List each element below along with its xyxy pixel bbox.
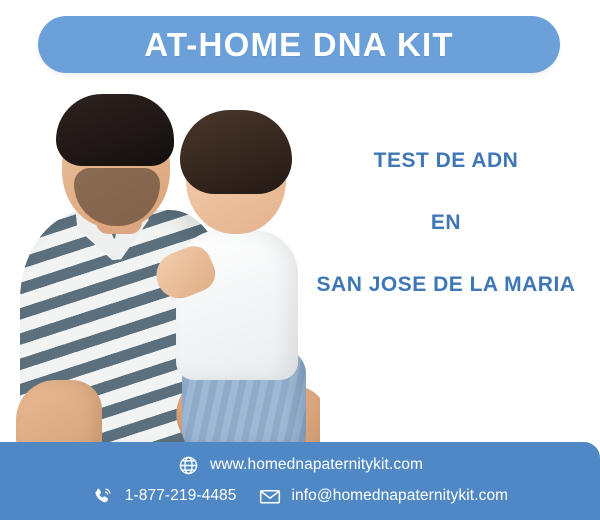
envelope-icon	[259, 485, 281, 507]
child-hair	[180, 110, 292, 194]
page-title: AT-HOME DNA KIT	[144, 28, 453, 61]
father-and-child-photo: Smiling father holding his young child, …	[0, 80, 320, 452]
headline-block: TEST DE ADN EN SAN JOSE DE LA MARIA	[300, 150, 592, 295]
footer-row-phone-email: 1-877-219-4485 info@homednapaternitykit.…	[0, 485, 600, 507]
headline-line-2: EN	[300, 212, 592, 233]
email-text: info@homednapaternitykit.com	[292, 487, 509, 505]
dna-kit-poster: AT-HOME DNA KIT Smiling father holding h…	[0, 0, 600, 520]
header-banner: AT-HOME DNA KIT	[38, 16, 560, 73]
phone-text: 1-877-219-4485	[125, 487, 237, 505]
man-hair	[56, 94, 174, 166]
footer-row-website: www.homednapaternitykit.com	[0, 454, 600, 476]
headline-line-1: TEST DE ADN	[300, 150, 592, 171]
contact-footer: www.homednapaternitykit.com 1-877-219-44…	[0, 442, 600, 520]
website-text: www.homednapaternitykit.com	[210, 456, 423, 474]
email-contact[interactable]: info@homednapaternitykit.com	[259, 485, 509, 507]
website-contact[interactable]: www.homednapaternitykit.com	[177, 454, 423, 476]
phone-contact[interactable]: 1-877-219-4485	[92, 485, 237, 507]
headline-line-3: SAN JOSE DE LA MARIA	[300, 274, 592, 295]
globe-icon	[177, 454, 199, 476]
phone-icon	[92, 485, 114, 507]
